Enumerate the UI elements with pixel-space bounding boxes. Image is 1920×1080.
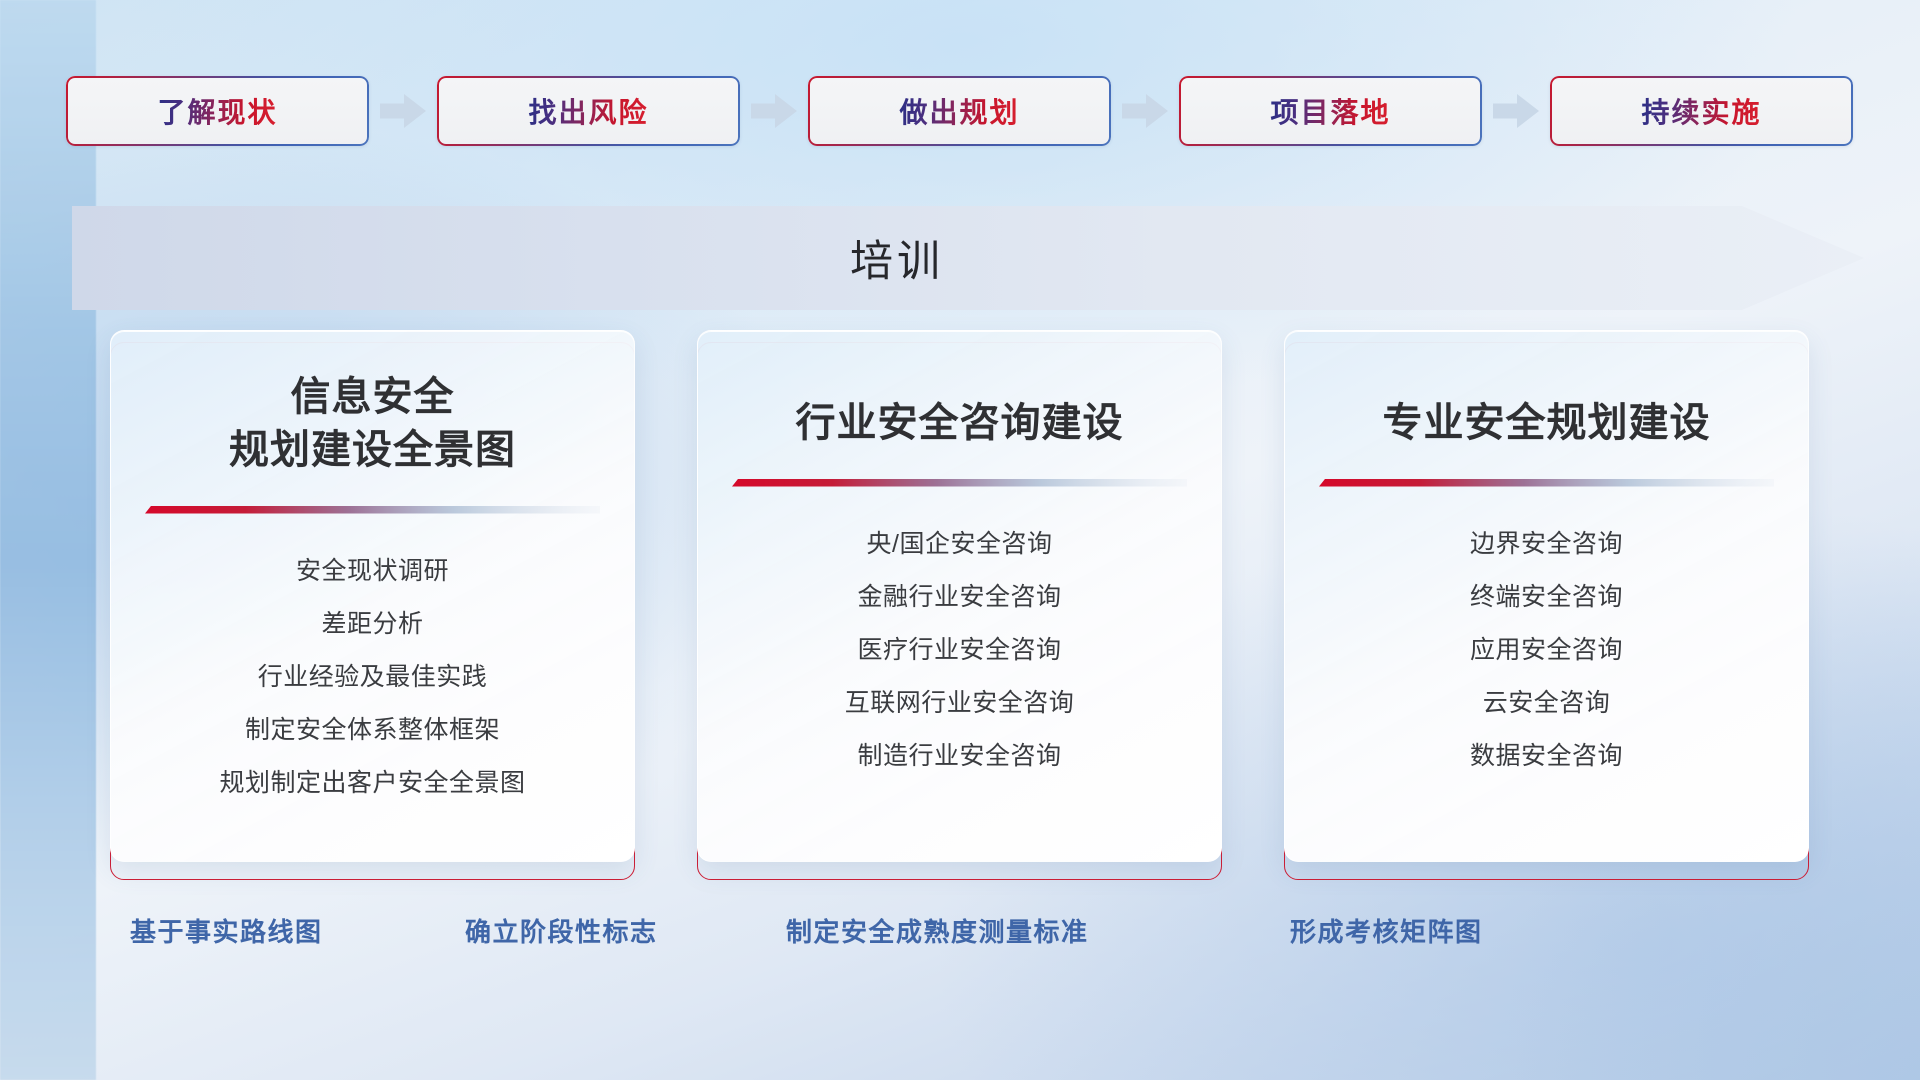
card-panel: 行业安全咨询建设 xyxy=(697,330,1222,862)
card-divider xyxy=(145,503,600,517)
step-label: 持续实施 xyxy=(1641,91,1761,131)
card-2[interactable]: 专业安全规划建设 xyxy=(1284,330,1809,880)
list-item: 终端安全咨询 xyxy=(1319,571,1774,624)
card-item-list: 边界安全咨询 终端安全咨询 应用安全咨询 云安全咨询 数据安全咨询 xyxy=(1319,518,1774,783)
arrow-right-icon xyxy=(1482,76,1550,146)
card-0[interactable]: 信息安全 规划建设全景图 xyxy=(110,330,635,880)
arrow-right-icon xyxy=(1111,76,1179,146)
list-item: 云安全咨询 xyxy=(1319,677,1774,730)
process-steps: 了解现状 找出风险 做出规划 项目落地 xyxy=(66,76,1856,146)
list-item: 安全现状调研 xyxy=(145,545,600,598)
caption-2: 制定安全成熟度测量标准 xyxy=(786,912,1089,949)
step-label: 找出风险 xyxy=(528,91,648,131)
list-item: 规划制定出客户安全全景图 xyxy=(145,757,600,810)
list-item: 差距分析 xyxy=(145,598,600,651)
list-item: 制造行业安全咨询 xyxy=(732,730,1187,783)
training-banner: 培训 xyxy=(72,206,1864,310)
list-item: 应用安全咨询 xyxy=(1319,624,1774,677)
list-item: 数据安全咨询 xyxy=(1319,730,1774,783)
caption-3: 形成考核矩阵图 xyxy=(1290,912,1483,949)
card-1[interactable]: 行业安全咨询建设 xyxy=(697,330,1222,880)
list-item: 央/国企安全咨询 xyxy=(732,518,1187,571)
list-item: 医疗行业安全咨询 xyxy=(732,624,1187,677)
step-item-0[interactable]: 了解现状 xyxy=(66,76,369,146)
card-title: 信息安全 规划建设全景图 xyxy=(229,371,516,477)
card-panel: 信息安全 规划建设全景图 xyxy=(110,330,635,862)
step-item-1[interactable]: 找出风险 xyxy=(437,76,740,146)
list-item: 金融行业安全咨询 xyxy=(732,571,1187,624)
caption-0: 基于事实路线图 xyxy=(130,912,323,949)
list-item: 互联网行业安全咨询 xyxy=(732,677,1187,730)
list-item: 行业经验及最佳实践 xyxy=(145,651,600,704)
card-title: 专业安全规划建设 xyxy=(1383,371,1711,450)
step-item-4[interactable]: 持续实施 xyxy=(1550,76,1853,146)
banner-title: 培训 xyxy=(72,206,1722,310)
list-item: 制定安全体系整体框架 xyxy=(145,704,600,757)
card-divider xyxy=(1319,476,1774,490)
slide-canvas: 了解现状 找出风险 做出规划 项目落地 xyxy=(0,0,1920,1080)
card-item-list: 央/国企安全咨询 金融行业安全咨询 医疗行业安全咨询 互联网行业安全咨询 制造行… xyxy=(732,518,1187,783)
card-item-list: 安全现状调研 差距分析 行业经验及最佳实践 制定安全体系整体框架 规划制定出客户… xyxy=(145,545,600,810)
step-item-2[interactable]: 做出规划 xyxy=(808,76,1111,146)
caption-row: 基于事实路线图 确立阶段性标志 制定安全成熟度测量标准 形成考核矩阵图 xyxy=(0,912,1920,962)
step-label: 了解现状 xyxy=(157,91,277,131)
card-panel: 专业安全规划建设 xyxy=(1284,330,1809,862)
cards-row: 信息安全 规划建设全景图 xyxy=(110,330,1810,890)
list-item: 边界安全咨询 xyxy=(1319,518,1774,571)
step-label: 做出规划 xyxy=(899,91,1019,131)
card-title: 行业安全咨询建设 xyxy=(796,371,1124,450)
step-item-3[interactable]: 项目落地 xyxy=(1179,76,1482,146)
step-label: 项目落地 xyxy=(1270,91,1390,131)
caption-1: 确立阶段性标志 xyxy=(465,912,658,949)
arrow-right-icon xyxy=(369,76,437,146)
arrow-right-icon xyxy=(740,76,808,146)
card-divider xyxy=(732,476,1187,490)
